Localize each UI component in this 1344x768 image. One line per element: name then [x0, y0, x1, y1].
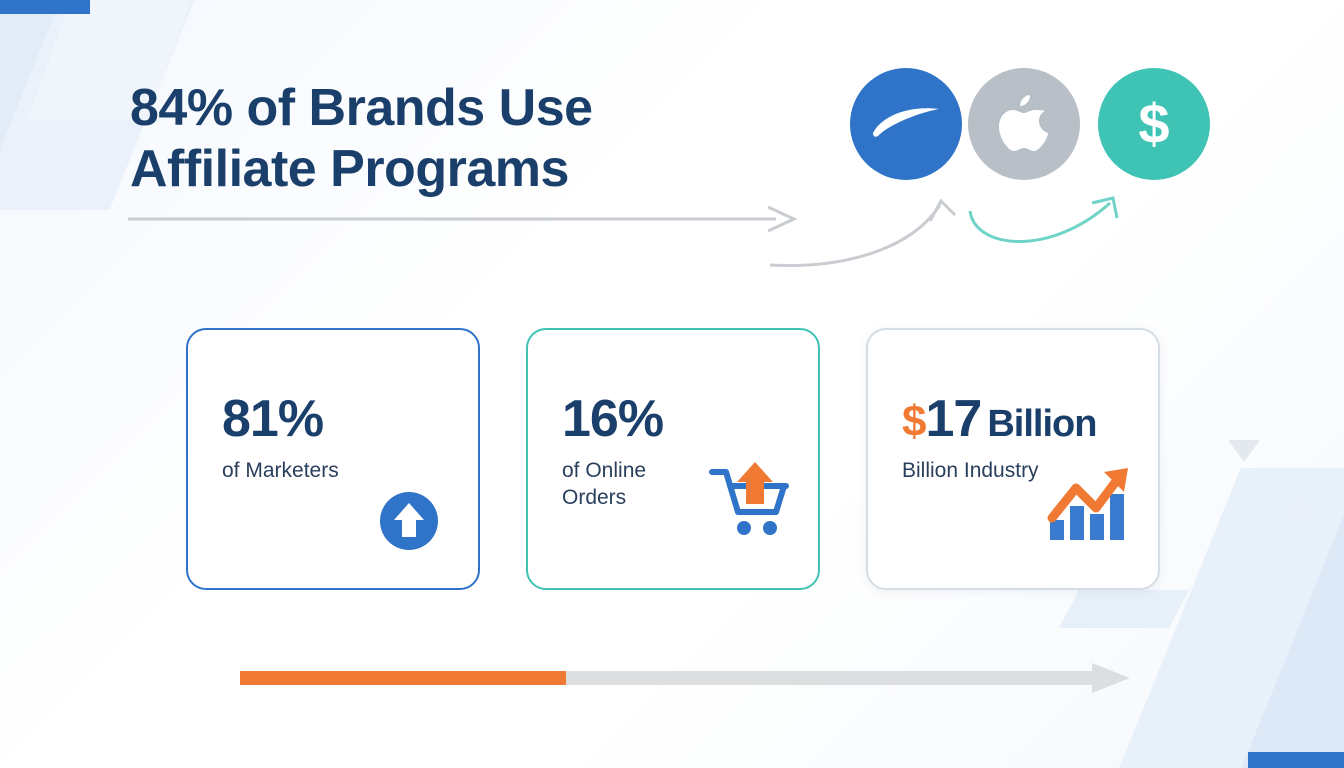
stat-label: of Marketers: [222, 457, 372, 484]
stat-value-number: 17: [925, 390, 981, 448]
page-title-line-2: Affiliate Programs: [130, 139, 750, 200]
stat-card-body: 81% of Marketers: [222, 392, 448, 484]
header-arrow-icon: [128, 205, 800, 238]
decor-bar-top-left: [0, 0, 90, 14]
infographic-canvas: 84% of Brands Use Affiliate Programs $: [0, 0, 1344, 768]
decor-bar-bottom-right: [1248, 752, 1344, 768]
circle-up-arrow-icon: [378, 490, 440, 557]
shopping-cart-up-arrow-icon: [708, 460, 792, 545]
page-title-line-1: 84% of Brands Use: [130, 78, 750, 139]
stat-value: 81%: [222, 392, 448, 447]
page-title: 84% of Brands Use Affiliate Programs: [130, 78, 750, 201]
progress-bar[interactable]: [240, 663, 1130, 698]
stat-value: 16%: [562, 392, 788, 447]
triangle-up-icon: [1290, 500, 1312, 516]
stat-value: $17Billion: [902, 392, 1128, 447]
stat-label: Billion Industry: [902, 457, 1052, 484]
stat-card-online-orders[interactable]: 16% of Online Orders: [526, 328, 820, 590]
apple-logo: [968, 68, 1080, 180]
stat-card-marketers[interactable]: 81% of Marketers: [186, 328, 480, 590]
bar-chart-growth-icon: [1044, 466, 1130, 547]
triangle-down-icon: [1228, 440, 1260, 462]
curved-arrows-icon: [770, 165, 1190, 280]
dollar-logo-label: $: [1138, 96, 1169, 152]
decor-diagonal-top-left-2: [0, 0, 72, 180]
stat-label: of Online Orders: [562, 457, 712, 512]
decor-parallelogram-right: [1059, 590, 1189, 628]
decor-diagonal-bottom-right-2: [1233, 488, 1344, 768]
dollar-logo: $: [1098, 68, 1210, 180]
nike-logo: [850, 68, 962, 180]
stat-value-prefix: $: [902, 397, 925, 446]
stat-card-industry[interactable]: $17Billion Billion Industry: [866, 328, 1160, 590]
stat-value-unit: Billion: [987, 403, 1096, 445]
